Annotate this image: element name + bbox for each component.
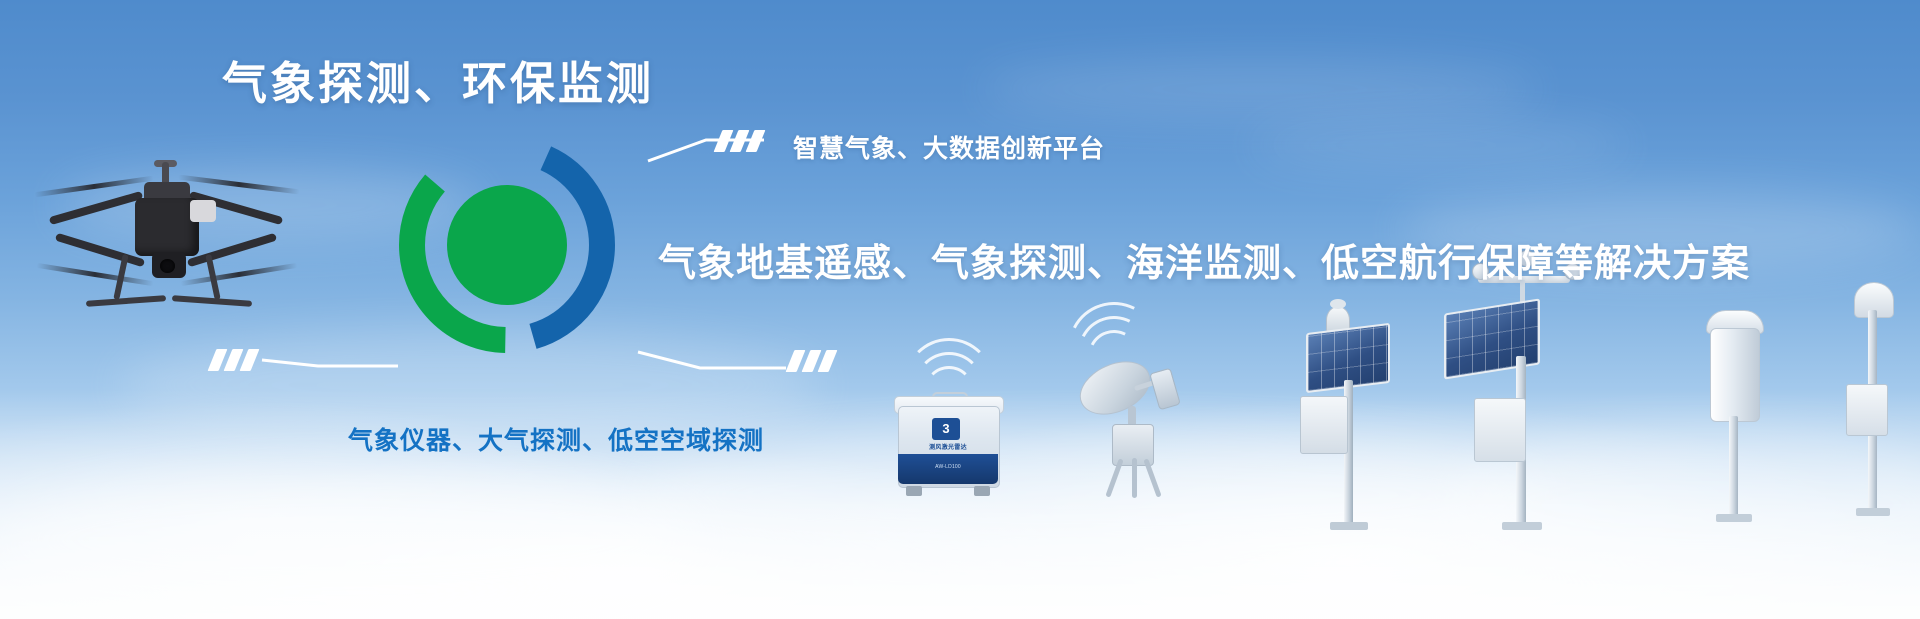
- slash-marks-bottom-left: [212, 349, 258, 371]
- slash-marks-top: [718, 130, 764, 152]
- callout-main-label: 气象地基遥感、气象探测、海洋监测、低空航行保障等解决方案: [658, 232, 1750, 287]
- solar-weather-station-graphic: [1280, 300, 1410, 530]
- page-title: 气象探测、环保监测: [222, 47, 654, 112]
- lidar-brand-mark: 3: [932, 418, 960, 440]
- drone-graphic: [40, 160, 290, 340]
- lidar-unit-graphic: 3 测风激光雷达 AW-LD100: [892, 392, 1004, 502]
- lidar-model: AW-LD100: [898, 464, 998, 470]
- cloud-streak: [0, 470, 700, 610]
- callout-top-label: 智慧气象、大数据创新平台: [793, 129, 1105, 165]
- callout-bottom-label: 气象仪器、大气探测、低空空域探测: [348, 421, 764, 457]
- hero-banner: 3 测风激光雷达 AW-LD100: [0, 0, 1920, 619]
- radar-dish-graphic: [1076, 358, 1196, 498]
- cloud-streak: [980, 60, 1540, 118]
- slash-marks-bottom-right: [790, 350, 836, 372]
- anemometer-station-graphic: [1420, 270, 1610, 530]
- cloud-streak: [1250, 120, 1630, 170]
- sensor-mast-graphic: [1838, 276, 1908, 526]
- ring-graphic: [392, 130, 622, 360]
- rain-gauge-graphic: [1690, 310, 1780, 525]
- lidar-label: 测风激光雷达: [898, 442, 998, 451]
